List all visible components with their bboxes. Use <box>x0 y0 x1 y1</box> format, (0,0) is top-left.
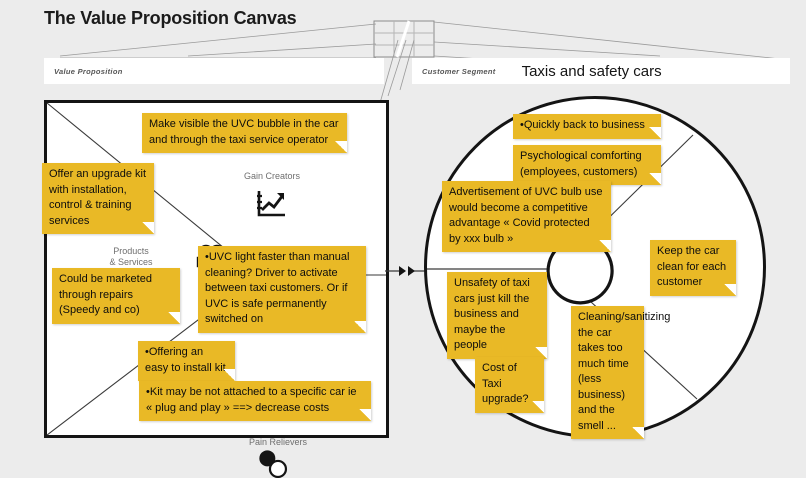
note-psychological-comforting[interactable]: Psychological comforting (employees, cus… <box>513 145 661 185</box>
customer-segment-value: Taxis and safety cars <box>522 63 662 80</box>
note-fold <box>142 222 154 234</box>
note-fold <box>632 427 644 439</box>
section-label-pain-relievers: Pain Relievers <box>233 437 323 448</box>
note-text: •UVC light faster than manual cleaning? … <box>205 251 349 325</box>
note-text: Unsafety of taxi cars just kill the busi… <box>454 277 530 351</box>
note-fold <box>168 312 180 324</box>
note-fold <box>599 240 611 252</box>
note-unsafety-taxi[interactable]: Unsafety of taxi cars just kill the busi… <box>447 272 547 359</box>
pill-icon <box>255 450 291 478</box>
note-quickly-back[interactable]: •Quickly back to business <box>513 114 661 139</box>
note-text: •Quickly back to business <box>520 119 645 131</box>
value-proposition-field[interactable]: Value Proposition <box>44 58 384 84</box>
note-text: Psychological comforting (employees, cus… <box>520 150 642 178</box>
note-text: Advertisement of UVC bulb use would beco… <box>449 186 602 245</box>
note-fold <box>649 127 661 139</box>
note-could-be-marketed[interactable]: Could be marketed through repairs (Speed… <box>52 268 180 324</box>
customer-segment-field[interactable]: Customer Segment Taxis and safety cars <box>412 58 790 84</box>
note-text: Make visible the UVC bubble in the car a… <box>149 118 339 146</box>
double-arrow-fit-icon <box>385 258 429 284</box>
section-label-products-services: Products& Services <box>91 246 171 268</box>
note-fold <box>532 401 544 413</box>
note-offer-upgrade[interactable]: Offer an upgrade kit with installation, … <box>42 163 154 234</box>
note-text: Keep the car clean for each customer <box>657 245 726 288</box>
note-uvc-light[interactable]: •UVC light faster than manual cleaning? … <box>198 246 366 333</box>
perspective-guide-lines <box>0 0 806 110</box>
note-fold <box>359 409 371 421</box>
note-fold <box>335 141 347 153</box>
note-text: •Kit may be not attached to a specific c… <box>146 386 357 414</box>
note-advertisement-uvc[interactable]: Advertisement of UVC bulb use would beco… <box>442 181 611 252</box>
note-fold <box>724 284 736 296</box>
customer-segment-label: Customer Segment <box>422 67 496 76</box>
note-text: Cost of Taxi upgrade? <box>482 362 529 405</box>
note-text: Offer an upgrade kit with installation, … <box>49 168 146 227</box>
note-fold <box>649 173 661 185</box>
note-keep-car-clean[interactable]: Keep the car clean for each customer <box>650 240 736 296</box>
note-text: Could be marketed through repairs (Speed… <box>59 273 152 316</box>
note-kit-not-attached[interactable]: •Kit may be not attached to a specific c… <box>139 381 371 421</box>
section-label-gain-creators: Gain Creators <box>232 171 312 182</box>
value-proposition-canvas: The Value Proposition Canvas Value Propo… <box>0 0 806 453</box>
note-text: •Offering an easy to install kit <box>145 346 226 374</box>
note-make-visible[interactable]: Make visible the UVC bubble in the car a… <box>142 113 347 153</box>
note-cost-of-taxi-upgrade[interactable]: Cost of Taxi upgrade? <box>475 357 544 413</box>
value-proposition-label: Value Proposition <box>54 67 123 76</box>
note-fold <box>354 321 366 333</box>
note-cleaning-sanitizing[interactable]: Cleaning/sanitizing the car takes too mu… <box>571 306 644 439</box>
note-fold <box>223 369 235 381</box>
note-offering-easy-kit[interactable]: •Offering an easy to install kit <box>138 341 235 381</box>
line-chart-icon <box>253 188 289 220</box>
